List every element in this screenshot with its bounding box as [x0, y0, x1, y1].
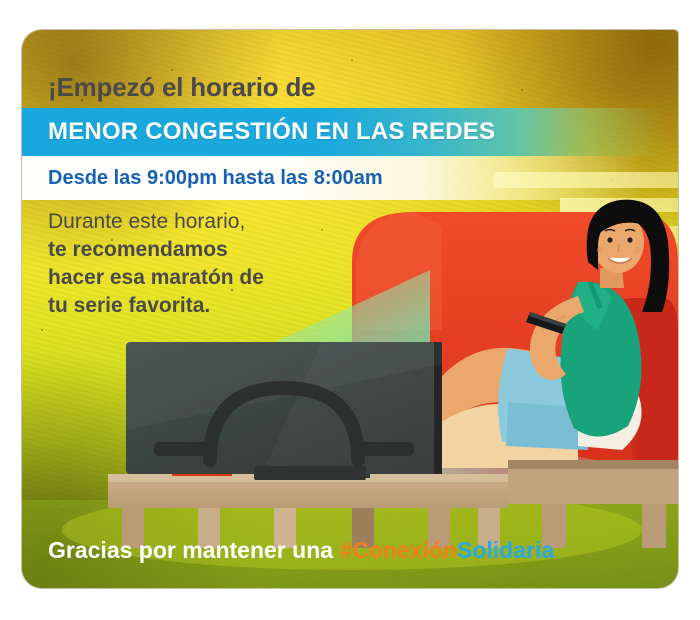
- speed-bar: [560, 198, 678, 212]
- footer-thanks-text: Gracias por mantener una: [48, 537, 333, 563]
- page-title: ¡Empezó el horario de: [48, 72, 315, 103]
- schedule-text: Desde las 9:00pm hasta las 8:00am: [48, 156, 383, 200]
- body-copy: Durante este horario, te recomendamos ha…: [48, 208, 264, 320]
- banner-ribbon: MENOR CONGESTIÓN EN LAS REDES: [22, 108, 678, 156]
- body-line-2: te recomendamos: [48, 236, 264, 264]
- hashtag-primary: #Conexión: [339, 537, 457, 563]
- body-line-4: tu serie favorita.: [48, 292, 264, 320]
- schedule-strip: Desde las 9:00pm hasta las 8:00am: [22, 156, 678, 200]
- footer-tagline: Gracias por mantener una #ConexiónSolida…: [48, 537, 554, 564]
- speed-bar: [378, 226, 678, 243]
- banner-headline: MENOR CONGESTIÓN EN LAS REDES: [48, 108, 495, 156]
- body-line-1: Durante este horario,: [48, 208, 264, 236]
- hashtag-secondary: Solidaria: [457, 537, 554, 563]
- body-line-3: hacer esa maratón de: [48, 264, 264, 292]
- promo-card: ¡Empezó el horario de MENOR CONGESTIÓN E…: [22, 30, 678, 588]
- speed-bar: [422, 254, 678, 269]
